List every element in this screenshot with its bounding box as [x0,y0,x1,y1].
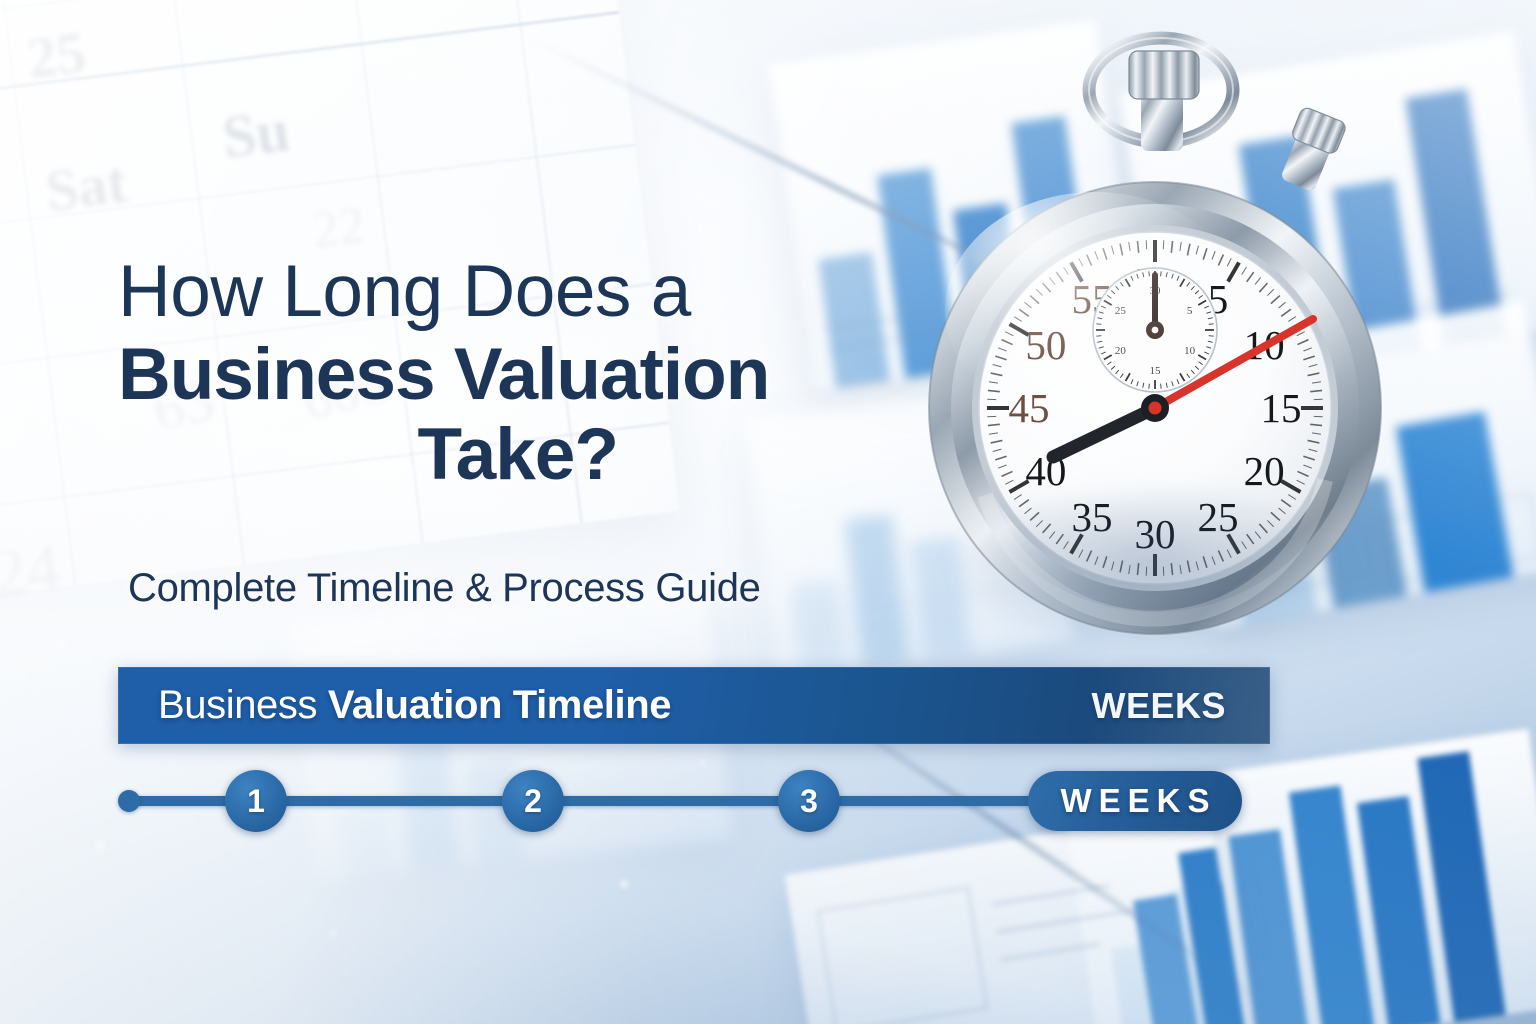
timeline-weeks-pill[interactable]: WEEKS [1028,771,1242,831]
headline-line-2: Business Valuation [118,334,908,416]
timeline-node-3-label: 3 [800,783,818,820]
stopwatch-dial-number: 15 [1261,385,1302,431]
banner-unit-label: WEEKS [1091,685,1226,727]
subheadline: Complete Timeline & Process Guide [128,566,761,611]
timeline-track: 1 2 3 WEEKS [118,770,1278,832]
timeline-weeks-pill-label: WEEKS [1060,782,1216,820]
timeline-node-3[interactable]: 3 [778,770,840,832]
timeline-line [132,796,1182,806]
banner-title-bold: Valuation Timeline [328,683,671,727]
timeline-node-2[interactable]: 2 [502,770,564,832]
headline-line-1: How Long Does a [118,255,908,328]
stopwatch-shadow [935,475,1365,655]
timeline-node-1[interactable]: 1 [225,770,287,832]
stopwatch-graphic: 51015202530354045505550 51015202530 [905,25,1405,655]
headline-line-3: Take? [118,414,908,496]
banner-title-light: Business [158,683,328,727]
headline-block: How Long Does a Business Valuation Take? [118,255,908,496]
banner-title: Business Valuation Timeline [158,683,671,728]
timeline-start-dot [118,790,140,812]
poster-canvas: 25 60 Su Sat 22 63 606 24 [0,0,1536,1024]
timeline-node-2-label: 2 [524,783,542,820]
timeline-banner: Business Valuation Timeline WEEKS [118,667,1270,744]
timeline-node-1-label: 1 [247,783,265,820]
